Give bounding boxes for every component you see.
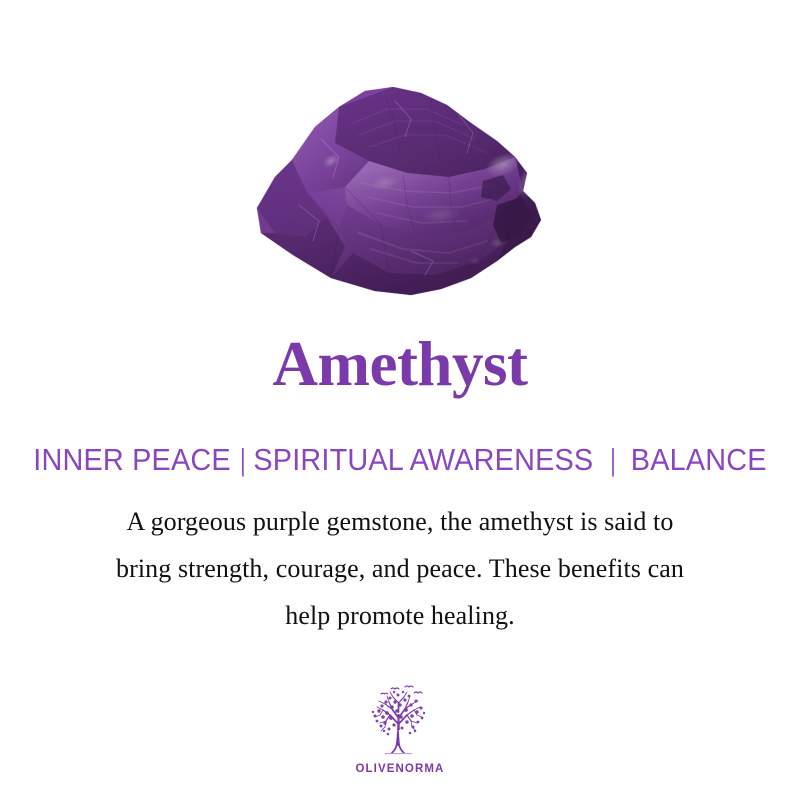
description-line: help promote healing. (60, 592, 740, 639)
keyword-separator: | (610, 441, 615, 479)
description-line: A gorgeous purple gemstone, the amethyst… (60, 498, 740, 545)
page-title: Amethyst (0, 331, 800, 397)
crystal-body (235, 65, 565, 305)
keyword-spiritual-awareness: SPIRITUAL AWARENESS (253, 442, 593, 477)
description-text: A gorgeous purple gemstone, the amethyst… (60, 498, 740, 639)
keyword-separator: | (240, 441, 245, 479)
keyword-balance: BALANCE (631, 442, 767, 477)
keyword-inner-peace: INNER PEACE (33, 442, 230, 477)
raw-amethyst-crystal-image (235, 65, 565, 305)
amethyst-info-card: Amethyst INNER PEACE|SPIRITUAL AWARENESS… (0, 0, 800, 800)
tree-of-life-icon (361, 684, 439, 760)
brand-wordmark: OLIVENORMA (356, 763, 445, 775)
gemstone-image-container (0, 62, 800, 307)
brand-logo: OLIVENORMA (0, 684, 800, 775)
keyword-list: INNER PEACE|SPIRITUAL AWARENESS|BALANCE (28, 441, 772, 479)
description-line: bring strength, courage, and peace. Thes… (60, 545, 740, 592)
